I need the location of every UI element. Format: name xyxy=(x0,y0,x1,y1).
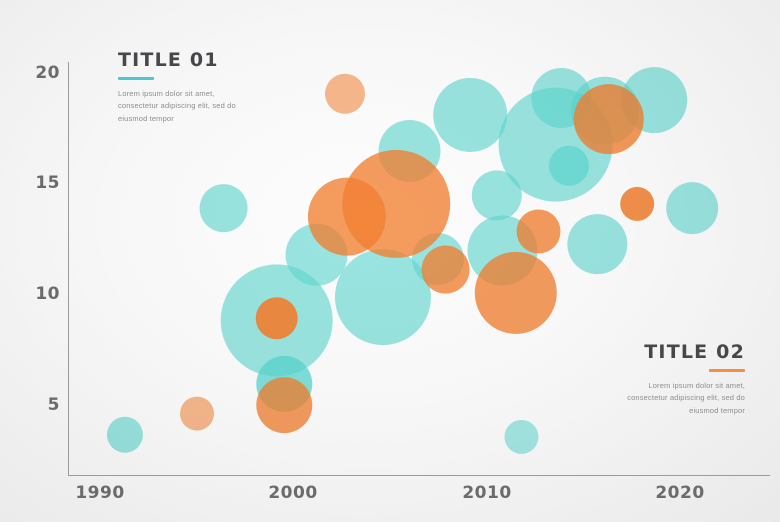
bubble xyxy=(180,397,214,431)
bubble-chart-plot-area xyxy=(0,0,780,522)
bubble xyxy=(504,420,538,454)
bubble-chart-svg xyxy=(0,0,780,522)
bubble xyxy=(422,246,470,294)
bubble xyxy=(200,184,248,232)
y-axis-tick-15: 15 xyxy=(20,173,60,193)
title-01-accent-rule xyxy=(118,77,154,80)
y-axis-tick-20: 20 xyxy=(20,63,60,83)
x-axis-tick-1990: 1990 xyxy=(60,483,140,503)
bubble xyxy=(666,182,718,234)
x-axis-tick-2010: 2010 xyxy=(447,483,527,503)
x-axis-line xyxy=(68,475,770,476)
bubble xyxy=(567,214,627,274)
y-axis-tick-10: 10 xyxy=(20,284,60,304)
title-block-01: TITLE 01 Lorem ipsum dolor sit amet, con… xyxy=(118,50,293,125)
title-block-02: TITLE 02 Lorem ipsum dolor sit amet, con… xyxy=(585,342,745,417)
title-01-heading: TITLE 01 xyxy=(118,50,293,71)
bubble xyxy=(475,252,557,334)
infographic-canvas: 2015105 1990200020102020 TITLE 01 Lorem … xyxy=(0,0,780,522)
bubble xyxy=(517,209,561,253)
y-axis-tick-5: 5 xyxy=(20,395,60,415)
title-02-body: Lorem ipsum dolor sit amet, consectetur … xyxy=(615,380,745,417)
bubble xyxy=(256,377,312,433)
bubble xyxy=(549,146,589,186)
bubble xyxy=(256,297,298,339)
x-axis-tick-2000: 2000 xyxy=(253,483,333,503)
title-02-accent-rule xyxy=(709,369,745,372)
bubble xyxy=(107,417,143,453)
title-02-heading: TITLE 02 xyxy=(585,342,745,363)
bubble xyxy=(574,84,644,154)
title-01-body: Lorem ipsum dolor sit amet, consectetur … xyxy=(118,88,248,125)
bubble xyxy=(325,74,365,114)
x-axis-tick-2020: 2020 xyxy=(640,483,720,503)
bubble xyxy=(433,78,507,152)
bubble xyxy=(620,187,654,221)
y-axis-line xyxy=(68,62,69,476)
bubble xyxy=(342,150,450,258)
